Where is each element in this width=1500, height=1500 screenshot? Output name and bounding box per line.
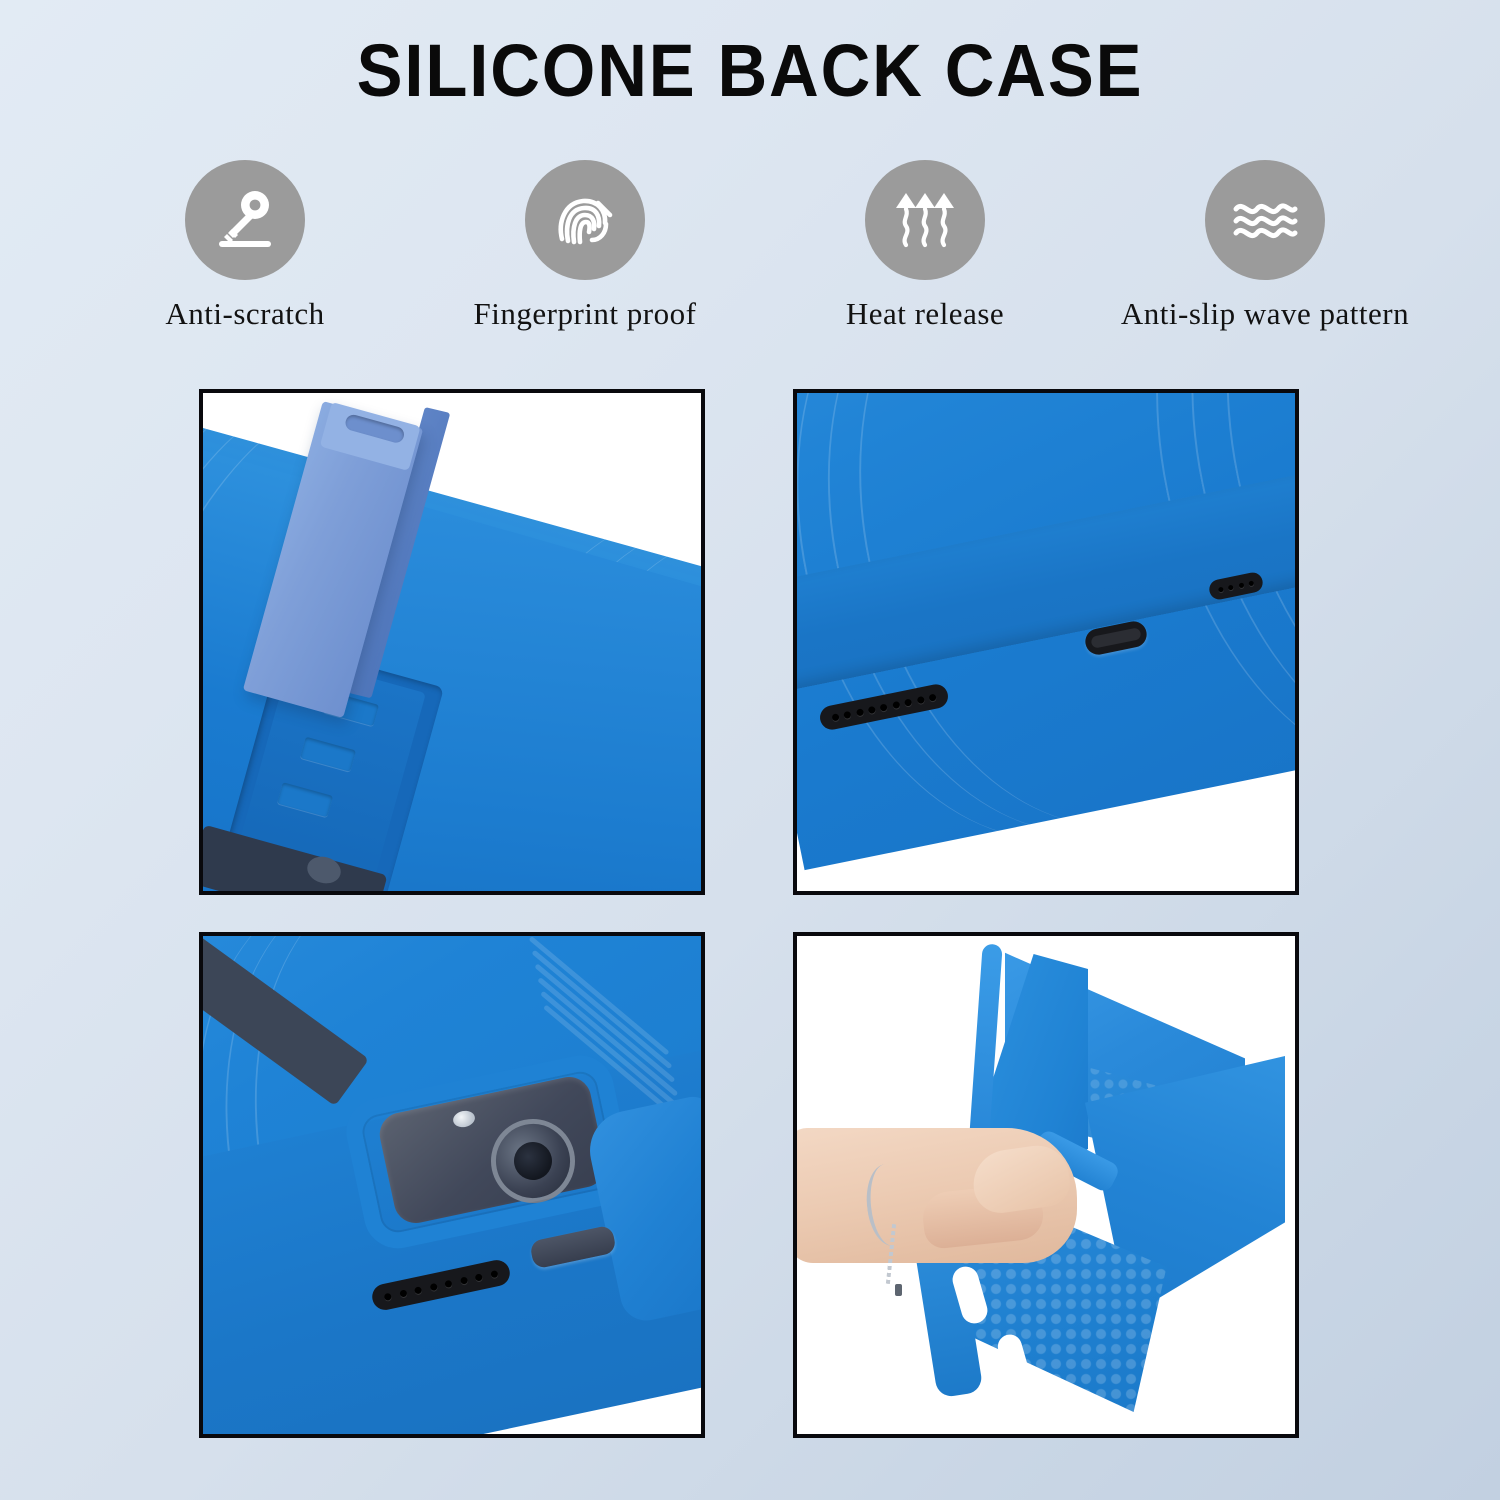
feature-label: Heat release xyxy=(846,296,1004,332)
feature-item-heat-release: Heat release xyxy=(755,160,1095,332)
feature-label: Anti-scratch xyxy=(165,296,324,332)
product-photo-port-edge-detail xyxy=(793,389,1299,895)
feature-item-anti-scratch: Anti-scratch xyxy=(75,160,415,332)
product-photo-camera-corner-detail xyxy=(199,932,705,1438)
heat-release-icon xyxy=(865,160,985,280)
feature-list: Anti-scratch Fingerprint proof xyxy=(75,160,1435,355)
fingerprint-icon xyxy=(525,160,645,280)
product-photo-flex-in-hand xyxy=(793,932,1299,1438)
wave-pattern-icon xyxy=(1205,160,1325,280)
page-title: SILICONE BACK CASE xyxy=(53,28,1448,113)
key-scratch-icon xyxy=(185,160,305,280)
bracelet-charm xyxy=(895,1284,902,1296)
feature-label: Anti-slip wave pattern xyxy=(1121,296,1409,332)
product-photo-grid xyxy=(199,389,1299,1438)
feature-label: Fingerprint proof xyxy=(474,296,697,332)
product-photo-kickstand-detail xyxy=(199,389,705,895)
product-infographic: SILICONE BACK CASE Anti-scratch xyxy=(0,0,1500,1500)
feature-item-anti-slip-wave-pattern: Anti-slip wave pattern xyxy=(1095,160,1435,332)
feature-item-fingerprint-proof: Fingerprint proof xyxy=(415,160,755,332)
